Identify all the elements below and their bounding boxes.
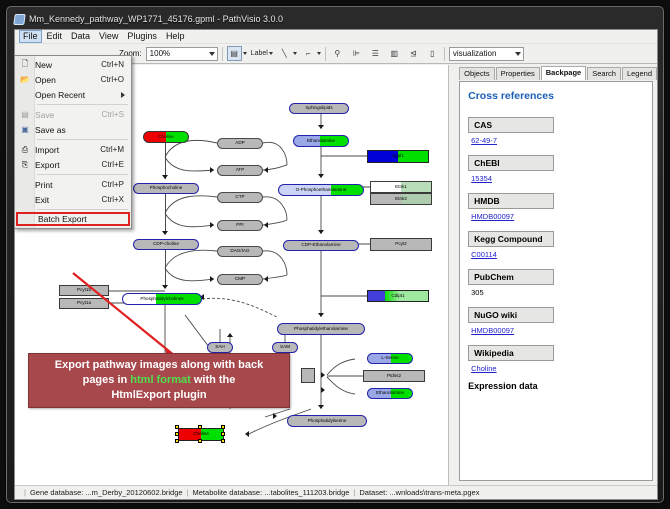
menu-help[interactable]: Help <box>162 30 189 43</box>
toolbar-separator <box>222 47 223 61</box>
label-tool-label: Label <box>251 50 268 57</box>
xref-source-label: ChEBI <box>468 155 554 171</box>
visualization-combo[interactable]: visualization <box>449 47 524 61</box>
callout-line-1: Export pathway images along with back <box>55 358 263 373</box>
expression-data-heading: Expression data <box>468 381 644 391</box>
status-dataset: Dataset: ...wnloads\trans-meta.pgex <box>359 488 479 497</box>
xref-nugo-wiki: NuGO wiki HMDB00097 <box>468 305 644 335</box>
file-menu-save-as[interactable]: ▣ Save as <box>15 122 131 137</box>
chevron-down-icon[interactable] <box>243 52 247 55</box>
callout-line-3: HtmlExport plugin <box>111 388 206 403</box>
folder-open-icon: 📂 <box>15 75 35 84</box>
chevron-down-icon[interactable] <box>317 52 321 55</box>
align-center-icon[interactable]: ☰ <box>368 46 383 61</box>
tab-objects[interactable]: Objects <box>459 67 494 80</box>
callout-highlight: html format <box>130 374 191 386</box>
menu-plugins[interactable]: Plugins <box>123 30 161 43</box>
menu-separator <box>37 139 128 140</box>
xref-value-link[interactable]: HMDB00097 <box>471 326 644 335</box>
file-menu-save: ▤ Save Ctrl+S <box>15 107 131 122</box>
window-title: Mm_Kennedy_pathway_WP1771_45176.gpml - P… <box>29 14 283 24</box>
menu-separator <box>37 209 128 210</box>
selection-handle[interactable] <box>175 439 179 443</box>
selection-handle[interactable] <box>198 439 202 443</box>
line-tool-group[interactable]: ╲ <box>277 46 297 61</box>
menu-view[interactable]: View <box>95 30 122 43</box>
xref-source-label: Kegg Compound <box>468 231 554 247</box>
xref-cas: CAS 62-49-7 <box>468 115 644 145</box>
order-icon[interactable]: ▯ <box>425 46 440 61</box>
xref-source-label: PubChem <box>468 269 554 285</box>
backpage-title: Cross references <box>468 90 644 102</box>
selection-handle[interactable] <box>198 425 202 429</box>
pathvisio-app-icon <box>13 14 26 25</box>
distribute-icon[interactable]: ▥ <box>387 46 402 61</box>
selection-handle[interactable] <box>175 432 179 436</box>
backpage-content[interactable]: Cross references CAS 62-49-7 ChEBI 15354… <box>459 81 653 481</box>
chevron-down-icon[interactable] <box>269 52 273 55</box>
xref-value-link[interactable]: 62-49-7 <box>471 136 644 145</box>
export-icon: ⎘ <box>15 160 35 170</box>
import-icon: ⎙ <box>15 145 35 155</box>
selection-handle[interactable] <box>221 439 225 443</box>
save-disk-icon: ▤ <box>15 110 35 119</box>
file-menu-exit[interactable]: Exit Ctrl+X <box>15 192 131 207</box>
group-icon[interactable]: ⊴ <box>406 46 421 61</box>
xref-value-link[interactable]: HMDB00097 <box>471 212 644 221</box>
chevron-down-icon <box>209 52 215 56</box>
xref-hmdb: HMDB HMDB00097 <box>468 191 644 221</box>
xref-value-link[interactable]: Choline <box>471 364 644 373</box>
file-menu-export[interactable]: ⎘ Export Ctrl+E <box>15 157 131 172</box>
file-menu-new[interactable]: 🗋 New Ctrl+N <box>15 57 131 72</box>
tab-properties[interactable]: Properties <box>496 67 540 80</box>
file-menu-batch-export[interactable]: Batch Export <box>16 212 130 226</box>
status-separator: | <box>187 488 189 497</box>
xref-source-label: HMDB <box>468 193 554 209</box>
side-panel-tabs: Objects Properties Backpage Search Legen… <box>453 65 657 80</box>
new-document-icon: 🗋 <box>15 58 35 72</box>
zoom-combo[interactable]: 100% <box>146 47 218 61</box>
datanode-tool-icon[interactable]: ▤ <box>227 46 242 61</box>
zoom-value: 100% <box>150 49 170 58</box>
callout-line-2: pages in html format with the <box>83 373 236 388</box>
datanode-tool-group[interactable]: ▤ <box>227 46 247 61</box>
xref-kegg-compound: Kegg Compound C00114 <box>468 229 644 259</box>
submenu-arrow-icon <box>121 92 125 98</box>
selection-handle[interactable] <box>221 432 225 436</box>
xref-pubchem: PubChem 305 <box>468 267 644 297</box>
file-menu-import[interactable]: ⎙ Import Ctrl+M <box>15 142 131 157</box>
connector-tool-group[interactable]: ⌐ <box>301 46 321 61</box>
status-bar: | Gene database: ...m_Derby_20120602.bri… <box>15 485 657 499</box>
chevron-down-icon <box>515 52 521 56</box>
xref-wikipedia: Wikipedia Choline <box>468 343 644 373</box>
xref-value-link[interactable]: C00114 <box>471 250 644 259</box>
callout-line-2-pre: pages in <box>83 374 131 386</box>
visualization-value: visualization <box>453 49 497 58</box>
status-separator: | <box>24 488 26 497</box>
selection-handle[interactable] <box>175 425 179 429</box>
xref-value-link[interactable]: 15354 <box>471 174 644 183</box>
menu-file[interactable]: File <box>19 30 42 43</box>
menu-edit[interactable]: Edit <box>43 30 67 43</box>
status-separator: | <box>353 488 355 497</box>
tab-search[interactable]: Search <box>587 67 621 80</box>
xref-value-text: 305 <box>471 288 644 297</box>
file-menu-dropdown[interactable]: 🗋 New Ctrl+N 📂 Open Ctrl+O Open Recent ▤… <box>14 55 132 229</box>
selection-handle[interactable] <box>221 425 225 429</box>
menu-separator <box>37 104 128 105</box>
connector-tool-icon[interactable]: ⌐ <box>301 46 316 61</box>
side-panel: Objects Properties Backpage Search Legen… <box>453 65 657 485</box>
file-menu-print[interactable]: Print Ctrl+P <box>15 177 131 192</box>
label-tool-group[interactable]: Label <box>251 50 273 57</box>
menu-bar: File Edit Data View Plugins Help <box>15 30 657 44</box>
callout-line-2-post: with the <box>191 374 236 386</box>
status-gene-database: Gene database: ...m_Derby_20120602.bridg… <box>30 488 183 497</box>
line-tool-icon[interactable]: ╲ <box>277 46 292 61</box>
toolbar-separator <box>325 47 326 61</box>
tab-backpage[interactable]: Backpage <box>541 66 586 80</box>
file-menu-open-recent[interactable]: Open Recent <box>15 87 131 102</box>
application-window: Mm_Kennedy_pathway_WP1771_45176.gpml - P… <box>6 6 664 503</box>
tab-legend[interactable]: Legend <box>622 67 657 80</box>
menu-data[interactable]: Data <box>67 30 94 43</box>
xref-source-label: CAS <box>468 117 554 133</box>
xref-chebi: ChEBI 15354 <box>468 153 644 183</box>
status-metabolite-database: Metabolite database: ...tabolites_111203… <box>193 488 350 497</box>
xref-source-label: NuGO wiki <box>468 307 554 323</box>
align-left-icon[interactable]: ⊫ <box>349 46 364 61</box>
save-as-icon: ▣ <box>15 125 35 134</box>
annotation-callout: Export pathway images along with back pa… <box>28 353 290 408</box>
title-bar: Mm_Kennedy_pathway_WP1771_45176.gpml - P… <box>10 10 662 28</box>
anchor-tool-icon[interactable]: ⚲ <box>330 46 345 61</box>
chevron-down-icon[interactable] <box>293 52 297 55</box>
xref-source-label: Wikipedia <box>468 345 554 361</box>
toolbar-separator <box>444 47 445 61</box>
menu-separator <box>37 174 128 175</box>
file-menu-open[interactable]: 📂 Open Ctrl+O <box>15 72 131 87</box>
